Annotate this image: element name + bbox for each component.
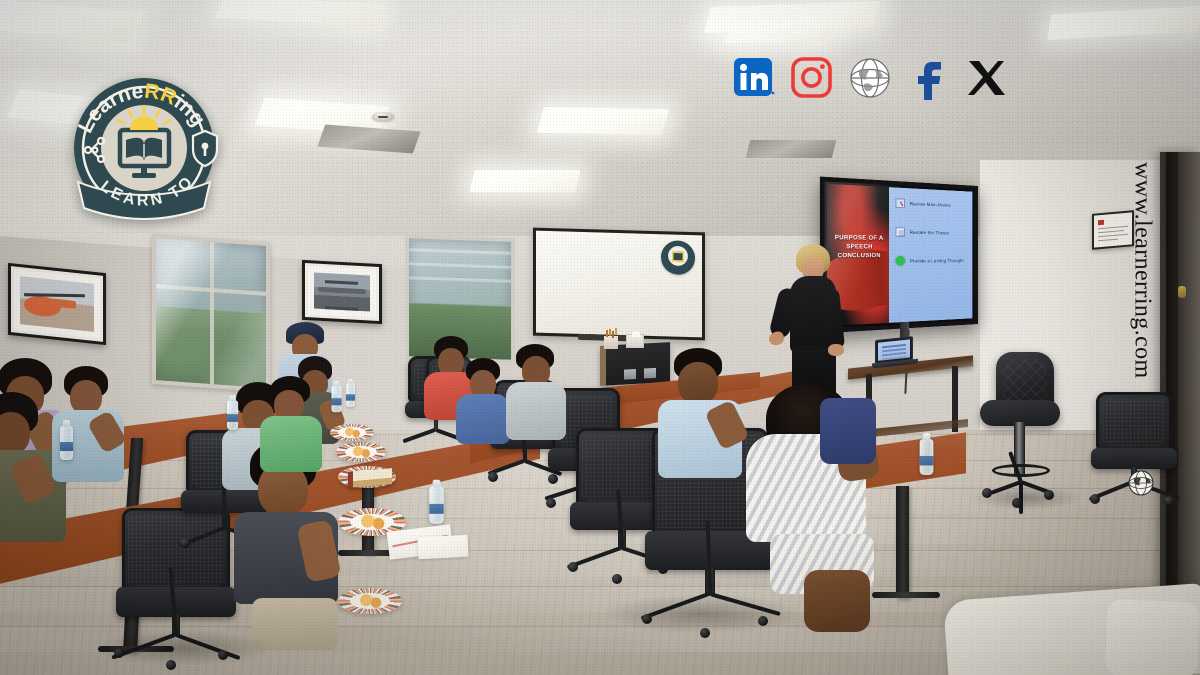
window-left <box>152 234 270 392</box>
pencil-cup <box>604 336 618 349</box>
leather-drafting-stool[interactable] <box>980 352 1062 498</box>
snack-plate <box>330 424 374 441</box>
laptop[interactable] <box>872 336 918 371</box>
website-globe-icon[interactable] <box>848 56 892 100</box>
water-bottle <box>60 426 73 460</box>
social-media-bar <box>732 56 1008 100</box>
snack-plate <box>336 442 386 462</box>
student <box>820 398 880 468</box>
slide-bullet-text: Provide a Lasting Thought <box>910 258 964 264</box>
student <box>658 348 746 478</box>
slide-bullet-item: Review Main Points <box>896 198 968 210</box>
table-leg <box>896 486 909 598</box>
framed-photo-osprey <box>302 260 382 324</box>
slide-bullet-item: Restate the Thesis <box>896 227 968 238</box>
presenter-hand-right <box>828 344 844 356</box>
slide-bullet-panel: Review Main Points Restate the Thesis Pr… <box>889 187 972 323</box>
tissue-box <box>626 334 644 348</box>
learnerring-logo: LearneRRing LEARN TO LEAD <box>64 72 224 230</box>
student <box>504 344 570 440</box>
facebook-icon[interactable] <box>906 56 950 100</box>
x-twitter-icon[interactable] <box>964 56 1008 100</box>
whiteboard <box>533 228 705 341</box>
water-bottle <box>429 486 443 523</box>
presenter <box>772 244 852 404</box>
water-bottle <box>920 439 934 475</box>
water-bottle <box>331 386 341 413</box>
smoke-detector-icon <box>372 112 394 121</box>
slide-bullet-item: Provide a Lasting Thought <box>896 256 968 266</box>
framed-photo-helicopter <box>8 263 106 345</box>
green-dot-icon <box>896 256 906 266</box>
screenshot-canvas: PURPOSE OF A SPEECH CONCLUSION Review Ma… <box>0 0 1200 675</box>
napkin <box>417 535 468 560</box>
snack-plate <box>338 588 402 614</box>
water-bottle <box>346 383 355 407</box>
door-handle[interactable] <box>1178 286 1186 298</box>
door-frame[interactable] <box>1160 152 1200 622</box>
ceiling-light-panel <box>726 23 835 43</box>
website-url-text: www.learnerring.com <box>1129 162 1156 379</box>
linkedin-icon[interactable] <box>732 56 776 100</box>
shield-icon <box>193 131 217 166</box>
line-chart-icon <box>896 198 906 208</box>
website-url-watermark: www.learnerring.com <box>1122 162 1162 522</box>
slide-bullet-text: Review Main Points <box>910 201 951 208</box>
student <box>258 376 328 472</box>
whiteboard-logo-sticker <box>661 240 695 275</box>
document-icon <box>896 227 906 237</box>
water-bottle <box>227 400 238 429</box>
ceiling-light-panel <box>537 107 670 135</box>
slide-bullet-text: Restate the Thesis <box>910 229 949 235</box>
globe-icon <box>1128 470 1154 496</box>
ceiling-light-panel <box>469 170 580 192</box>
instagram-icon[interactable] <box>790 56 834 100</box>
air-vent <box>746 140 836 158</box>
